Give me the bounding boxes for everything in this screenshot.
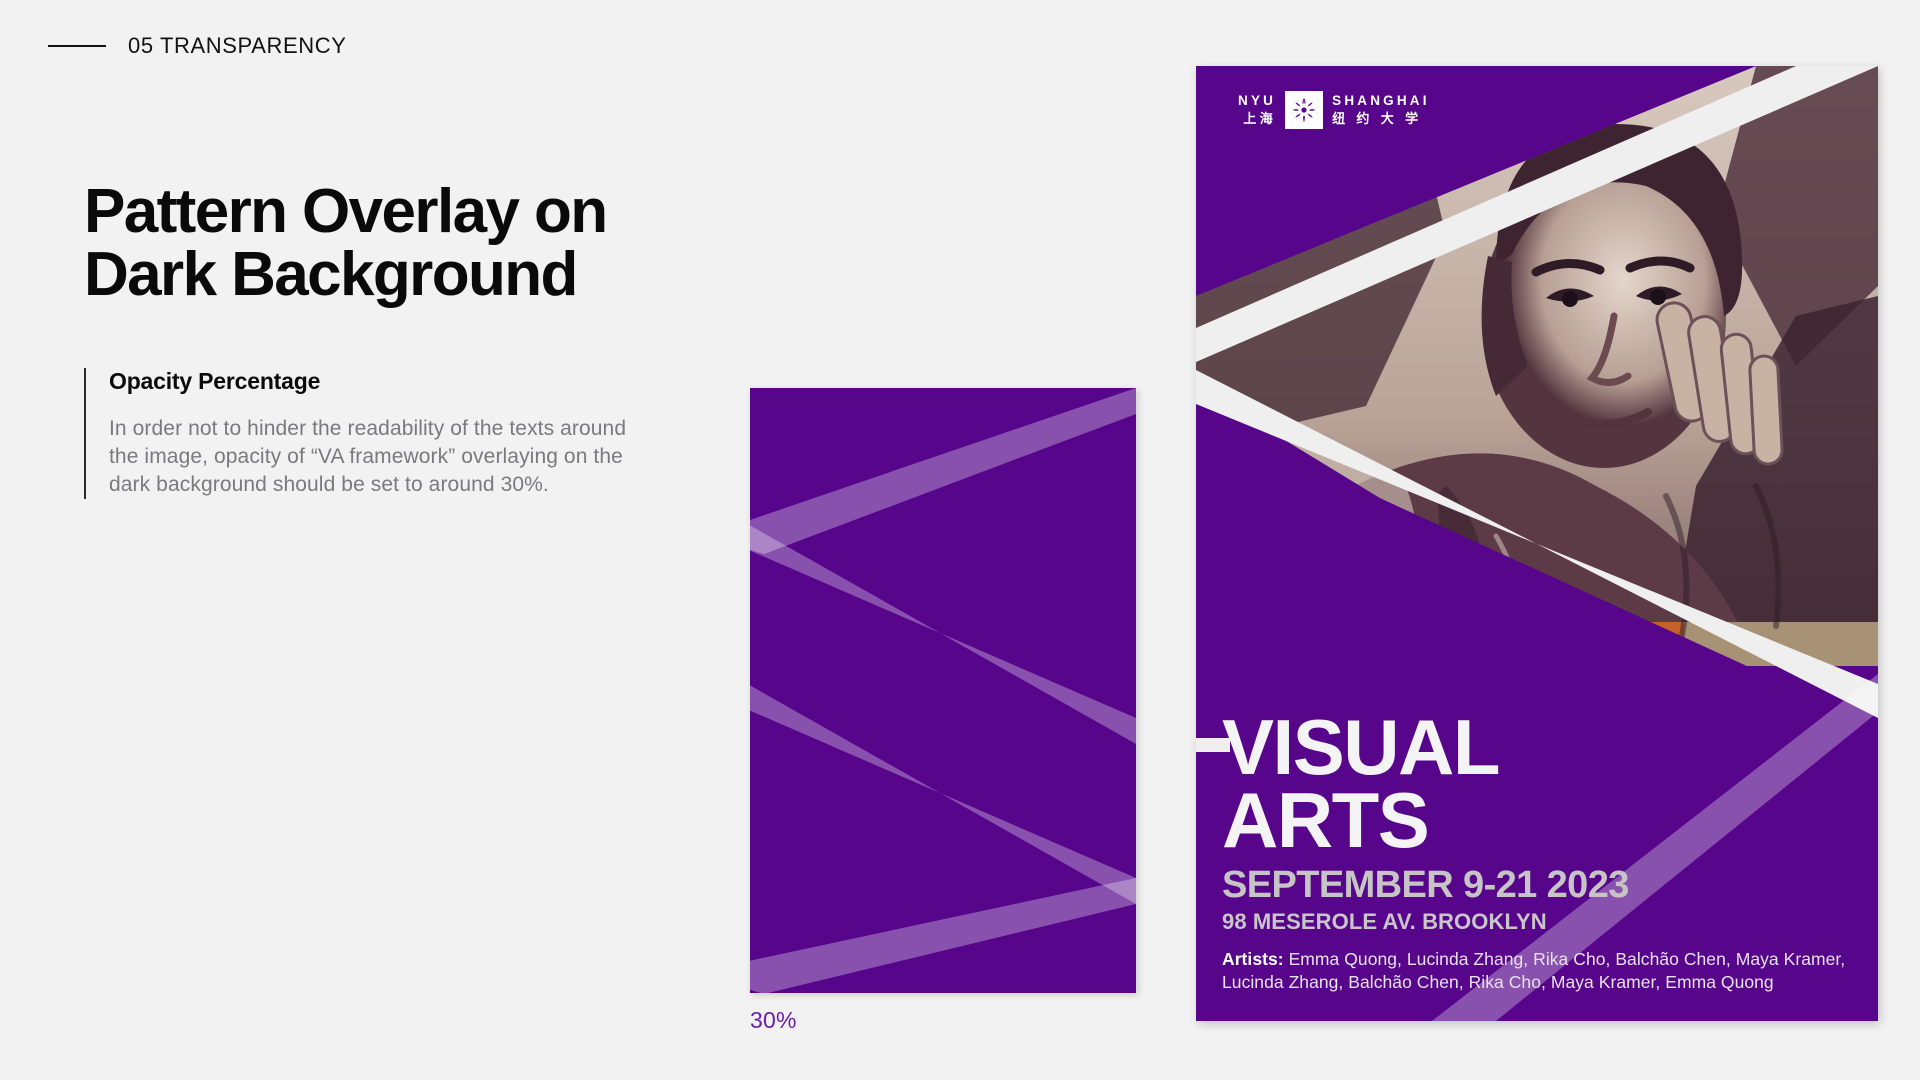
left-content-column: Pattern Overlay on Dark Background Opaci…	[84, 180, 744, 499]
note-body: In order not to hinder the readability o…	[109, 415, 639, 499]
poster-title-line-2: ARTS	[1222, 784, 1858, 857]
slide-header: 05 TRANSPARENCY	[48, 33, 346, 59]
poster-title-line-1: VISUAL	[1222, 711, 1858, 784]
logo-shanghai-cn-text: 上海	[1243, 113, 1276, 126]
va-framework-pattern-icon	[750, 388, 1136, 993]
poster-artists-list: Emma Quong, Lucinda Zhang, Rika Cho, Bal…	[1222, 949, 1845, 991]
nyu-shanghai-logo: NYU 上海 SHANGHAI	[1238, 91, 1430, 129]
poster-artists: Artists: Emma Quong, Lucinda Zhang, Rika…	[1222, 948, 1858, 993]
note-title: Opacity Percentage	[109, 368, 639, 395]
nyu-torch-icon	[1285, 91, 1323, 129]
opacity-swatch-group: 30%	[750, 388, 1136, 1034]
poster-preview: NYU 上海 SHANGHAI	[1196, 66, 1878, 1021]
note-block: Opacity Percentage In order not to hinde…	[84, 368, 639, 499]
logo-shanghai-text: SHANGHAI	[1332, 94, 1430, 108]
header-rule-icon	[48, 45, 106, 47]
opacity-percentage-label: 30%	[750, 1007, 1136, 1034]
page-title: Pattern Overlay on Dark Background	[84, 180, 744, 306]
logo-left-column: NYU 上海	[1238, 94, 1276, 126]
pattern-swatch	[750, 388, 1136, 993]
poster-venue: 98 MESEROLE AV. BROOKLYN	[1222, 910, 1858, 934]
page-title-line-2: Dark Background	[84, 243, 744, 306]
logo-right-column: SHANGHAI 纽 约 大 学	[1332, 94, 1430, 126]
page-title-line-1: Pattern Overlay on	[84, 180, 744, 243]
poster-date: SEPTEMBER 9-21 2023	[1222, 866, 1858, 906]
section-label: 05 TRANSPARENCY	[128, 33, 346, 59]
poster-artists-label: Artists:	[1222, 949, 1284, 969]
poster-text-block: VISUAL ARTS SEPTEMBER 9-21 2023 98 MESER…	[1222, 711, 1858, 993]
poster-title: VISUAL ARTS	[1222, 711, 1858, 856]
logo-nyu-cn-text: 纽 约 大 学	[1332, 113, 1421, 126]
logo-nyu-text: NYU	[1238, 94, 1276, 108]
